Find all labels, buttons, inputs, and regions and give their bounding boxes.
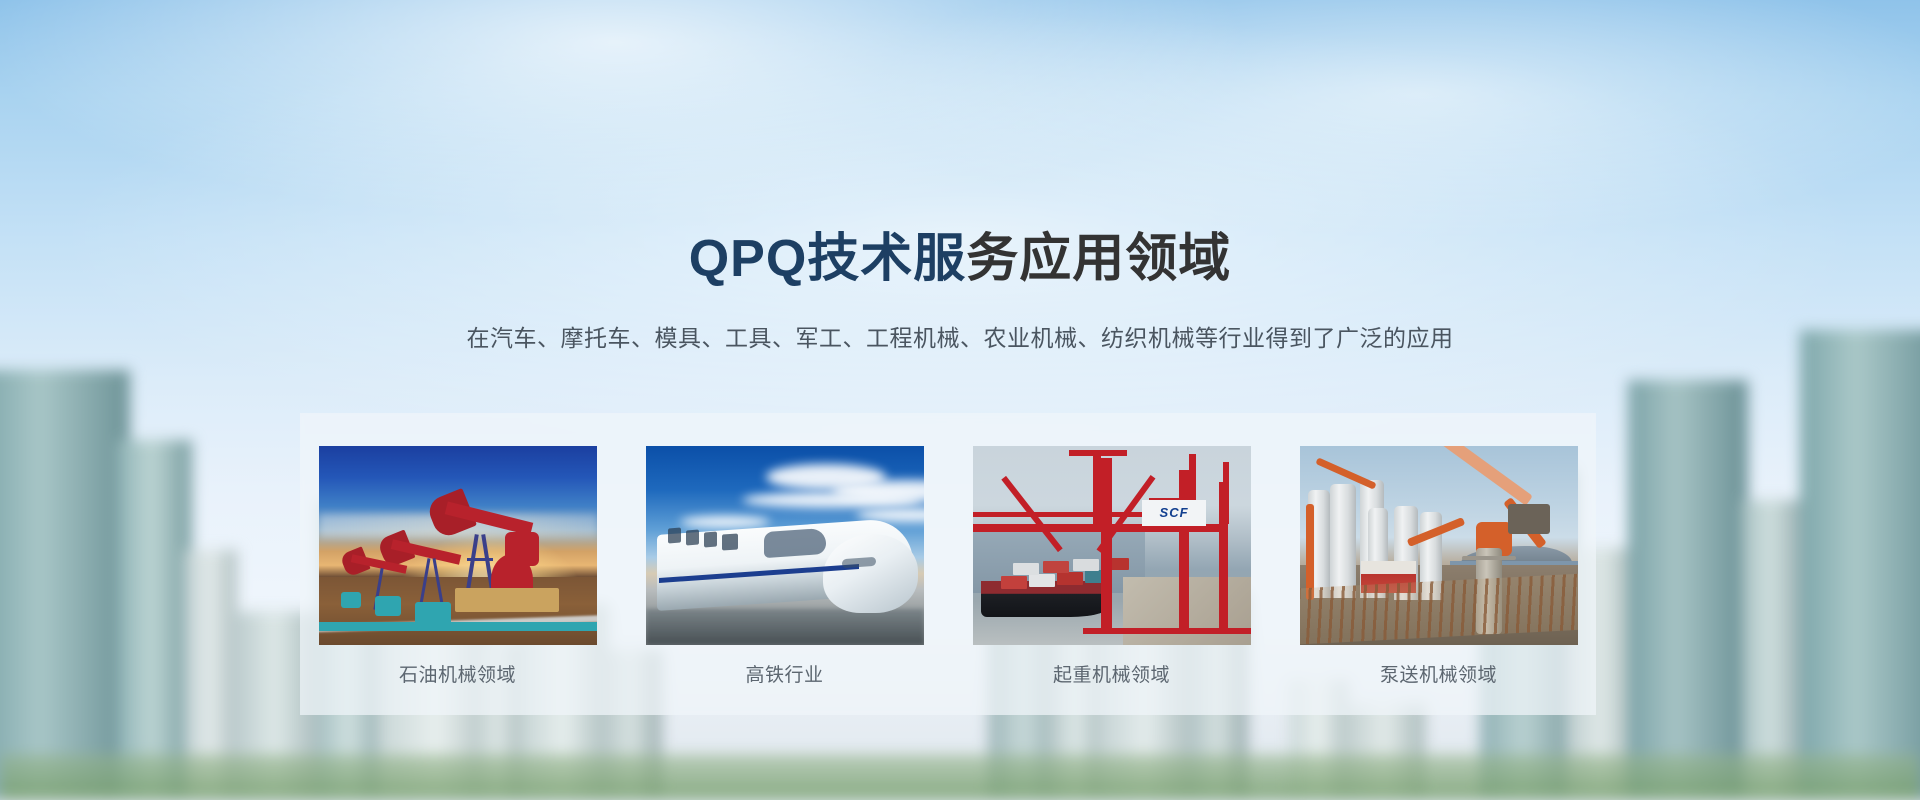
page-title: QPQ技术服务应用领域 xyxy=(0,233,1920,285)
train-window xyxy=(668,528,681,544)
crane-mast xyxy=(1223,462,1229,524)
pipeline xyxy=(319,622,597,631)
card-list: 石油机械领域 xyxy=(300,413,1596,715)
card-label: 高铁行业 xyxy=(745,666,823,685)
high-speed-train-photo[interactable] xyxy=(646,446,924,645)
card-label: 泵送机械领域 xyxy=(1380,666,1497,685)
container xyxy=(1073,559,1099,571)
card-item[interactable]: 泵送机械领域 xyxy=(1300,446,1578,685)
train-cab-window xyxy=(764,528,826,558)
building xyxy=(118,440,192,800)
container xyxy=(1001,576,1027,589)
card-item[interactable]: 高铁行业 xyxy=(646,446,924,685)
port-gantry-crane-photo[interactable]: SCF xyxy=(973,446,1251,645)
card-label: 起重机械领域 xyxy=(1053,666,1170,685)
wellhead-valve xyxy=(375,596,401,616)
page-title-primary: QPQ技术服 xyxy=(689,230,967,288)
container xyxy=(1013,563,1039,575)
train-nose xyxy=(823,534,918,614)
photo-scene xyxy=(646,446,924,645)
container xyxy=(1043,561,1069,573)
train-window xyxy=(704,532,717,548)
ground-strip xyxy=(0,754,1920,800)
card-label: 石油机械领域 xyxy=(399,666,516,685)
photo-scene: SCF xyxy=(973,446,1251,645)
page-title-secondary: 务应用领域 xyxy=(966,230,1231,288)
page-subtitle: 在汽车、摩托车、模具、工具、军工、工程机械、农业机械、纺织机械等行业得到了广泛的… xyxy=(0,327,1920,350)
machine-cab xyxy=(1508,504,1550,534)
building xyxy=(185,550,237,800)
oil-pumpjacks-photo[interactable] xyxy=(319,446,597,645)
concrete-pump-photo[interactable] xyxy=(1300,446,1578,645)
pump-boom xyxy=(1435,446,1533,506)
cloud xyxy=(742,492,922,508)
cement-silo xyxy=(1330,484,1356,598)
photo-scene xyxy=(319,446,597,645)
crane-top-beam xyxy=(1069,450,1127,456)
railway-track xyxy=(646,609,924,645)
building xyxy=(1800,330,1920,800)
crane-rail xyxy=(1083,628,1251,634)
container xyxy=(1029,574,1055,587)
building xyxy=(0,370,130,800)
wellhead-valve xyxy=(341,592,361,608)
train-window xyxy=(686,530,699,546)
catwalk-rail xyxy=(1462,556,1516,560)
crane-brand-mark: SCF xyxy=(1142,500,1206,526)
building xyxy=(1742,500,1806,800)
page-banner: QPQ技术服务应用领域 在汽车、摩托车、模具、工具、军工、工程机械、农业机械、纺… xyxy=(0,0,1920,800)
pumpjack-base xyxy=(455,588,559,612)
building xyxy=(1345,704,1425,800)
derrick xyxy=(467,558,493,561)
train-window xyxy=(722,533,738,550)
application-fields-panel: 石油机械领域 xyxy=(300,413,1596,715)
card-item[interactable]: 石油机械领域 xyxy=(319,446,597,685)
pump-boom xyxy=(1306,504,1314,600)
photo-scene xyxy=(1300,446,1578,645)
crane-mast xyxy=(1093,450,1101,528)
cloud xyxy=(680,516,770,528)
container xyxy=(1057,572,1083,585)
building xyxy=(1628,380,1748,800)
crane-leg xyxy=(1179,470,1189,634)
card-item[interactable]: SCF 起重机械领域 xyxy=(973,446,1251,685)
